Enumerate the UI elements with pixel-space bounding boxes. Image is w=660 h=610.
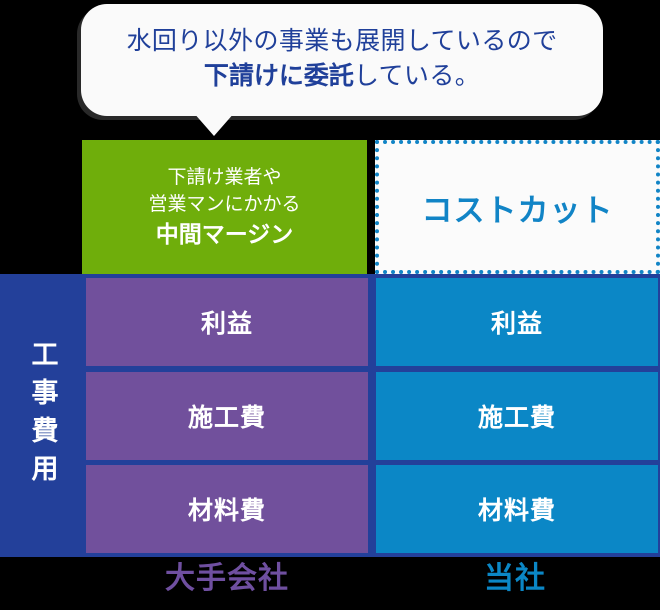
cost-cut-label: コストカット xyxy=(422,185,614,230)
caption-major-company: 大手会社 xyxy=(165,564,289,594)
speech-bubble-tail-icon xyxy=(193,112,235,136)
table-row: 利益 xyxy=(376,278,658,366)
table-row: 利益 xyxy=(86,278,368,366)
caption-slot-right: 当社 xyxy=(370,560,660,610)
speech-bubble-line-2: 下請けに委託している。 xyxy=(204,59,480,95)
table-row: 材料費 xyxy=(86,465,368,553)
top-row: 下請け業者や 営業マンにかかる 中間マージン コストカット xyxy=(82,140,660,274)
caption-our-company: 当社 xyxy=(484,564,546,594)
table-row: 施工費 xyxy=(376,372,658,460)
diagram-canvas: 水回り以外の事業も展開しているので 下請けに委託している。 下請け業者や 営業マ… xyxy=(0,0,660,610)
middle-margin-line-1: 下請け業者や xyxy=(167,164,281,192)
speech-bubble-line-1: 水回り以外の事業も展開しているので xyxy=(126,24,557,60)
middle-margin-line-2: 営業マンにかかる xyxy=(148,191,300,219)
cost-cut-box: コストカット xyxy=(375,140,660,274)
caption-slot-left: 大手会社 xyxy=(84,560,370,610)
middle-margin-line-3: 中間マージン xyxy=(156,219,294,250)
column-captions: 大手会社 当社 xyxy=(0,560,660,610)
speech-bubble-line-2-tail-text: している。 xyxy=(354,62,480,90)
cost-comparison-table: 工事費用 利益 施工費 材料費 利益 施工費 材料費 xyxy=(0,274,660,557)
table-side-label-text: 工事費用 xyxy=(29,340,56,492)
table-row: 施工費 xyxy=(86,372,368,460)
captions-spacer xyxy=(0,560,84,610)
speech-bubble-emphasis: 下請けに委託 xyxy=(204,62,354,90)
table-row: 材料費 xyxy=(376,465,658,553)
speech-bubble: 水回り以外の事業も展開しているので 下請けに委託している。 xyxy=(81,4,603,116)
middle-margin-box: 下請け業者や 営業マンにかかる 中間マージン xyxy=(82,140,367,274)
column-our-company: 利益 施工費 材料費 xyxy=(376,274,660,557)
column-major-company: 利益 施工費 材料費 xyxy=(84,274,370,557)
table-side-label: 工事費用 xyxy=(0,274,84,557)
top-row-spacer xyxy=(367,140,375,274)
